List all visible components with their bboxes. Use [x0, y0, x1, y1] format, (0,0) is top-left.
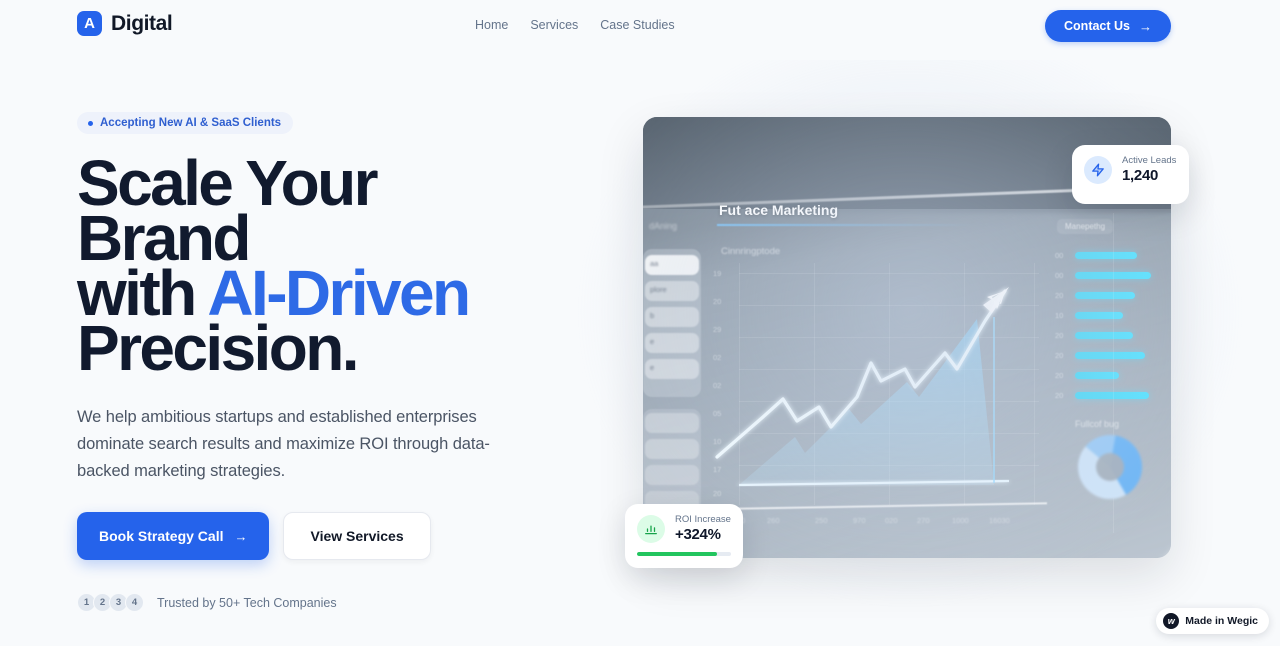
brand-name: Digital: [111, 12, 172, 36]
brand-logo[interactable]: A Digital: [77, 11, 172, 36]
avatar: 4: [125, 593, 144, 612]
status-badge: Accepting New AI & SaaS Clients: [77, 112, 293, 134]
made-in-wegic-label: Made in Wegic: [1185, 615, 1258, 627]
nav-item-case-studies[interactable]: Case Studies: [600, 18, 674, 32]
roi-progress-bar: [637, 552, 731, 556]
badge-label: Accepting New AI & SaaS Clients: [100, 117, 281, 129]
wegic-logo-icon: w: [1163, 613, 1179, 629]
roi-increase-value: +324%: [675, 526, 731, 543]
badge-dot-icon: [88, 121, 93, 126]
made-in-wegic-badge[interactable]: w Made in Wegic: [1156, 608, 1269, 634]
arrow-right-icon: →: [234, 530, 247, 543]
roi-progress-fill: [637, 552, 717, 556]
hero-subheading: We help ambitious startups and establish…: [77, 404, 497, 484]
main-nav: Home Services Case Studies: [475, 18, 675, 32]
cta-row: Book Strategy Call → View Services: [77, 512, 547, 560]
social-proof: 1 2 3 4 Trusted by 50+ Tech Companies: [77, 593, 547, 612]
headline-line-3: Precision.: [77, 312, 357, 384]
brand-mark-icon: A: [77, 11, 102, 36]
page-title: Scale Your Brand with AI-Driven Precisio…: [77, 156, 547, 376]
active-leads-card: Active Leads 1,240: [1072, 145, 1189, 204]
roi-increase-label: ROI Increase: [675, 514, 731, 526]
headline-line-1: Scale Your Brand: [77, 147, 376, 274]
bar-chart-icon: [637, 515, 665, 543]
contact-us-button[interactable]: Contact Us →: [1045, 10, 1171, 42]
book-strategy-call-button[interactable]: Book Strategy Call →: [77, 512, 269, 560]
trust-text: Trusted by 50+ Tech Companies: [157, 596, 337, 610]
landing-page: A Digital Home Services Case Studies Boo…: [0, 0, 1280, 646]
lightning-bolt-icon: [1084, 156, 1112, 184]
contact-us-label: Contact Us: [1064, 19, 1130, 33]
book-strategy-call-label: Book Strategy Call: [99, 528, 223, 544]
view-services-button[interactable]: View Services: [283, 512, 430, 560]
site-header: A Digital Home Services Case Studies Boo…: [0, 0, 1280, 52]
arrow-right-icon: →: [1139, 20, 1152, 33]
nav-item-home[interactable]: Home: [475, 18, 508, 32]
active-leads-label: Active Leads: [1122, 155, 1176, 167]
roi-increase-card: ROI Increase +324%: [625, 504, 743, 568]
active-leads-value: 1,240: [1122, 167, 1176, 184]
hero-content: Accepting New AI & SaaS Clients Scale Yo…: [77, 112, 547, 612]
nav-item-services[interactable]: Services: [530, 18, 578, 32]
avatar-group: 1 2 3 4: [77, 593, 141, 612]
